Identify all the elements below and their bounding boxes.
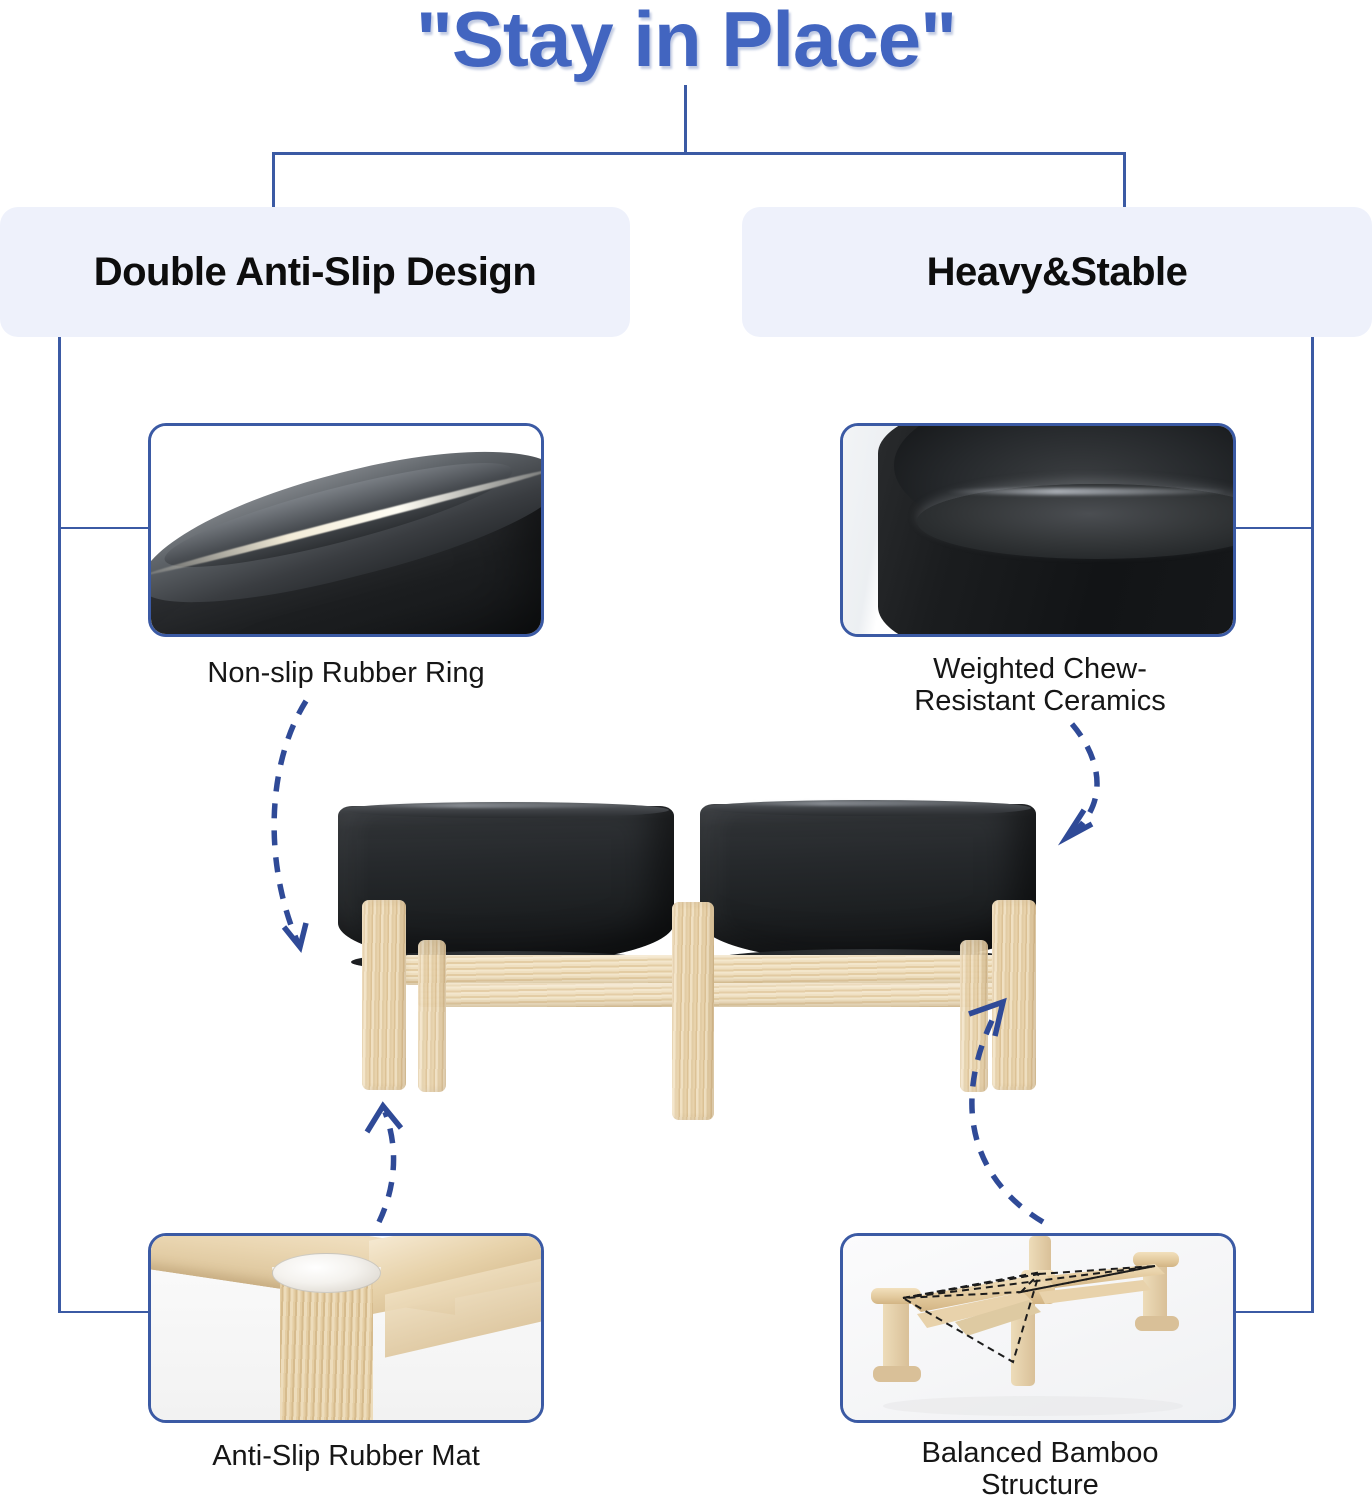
category-label: Double Anti-Slip Design xyxy=(94,250,537,295)
page-title: "Stay in Place" xyxy=(0,0,1372,85)
bamboo-leg-outer-left xyxy=(362,900,406,1090)
connector-title-stem xyxy=(684,85,687,155)
category-box-double-anti-slip-design[interactable]: Double Anti-Slip Design xyxy=(0,207,630,337)
caption-weighted-chew-resistant-ceramics: Weighted Chew- Resistant Ceramics xyxy=(860,653,1220,718)
right-branch-to-top-inset xyxy=(1230,527,1314,529)
connector-top-crossbar xyxy=(272,152,1126,155)
photo-bowl-underside xyxy=(151,426,541,634)
ceramic-bowl-right xyxy=(700,804,1036,962)
caption-line-2: Resistant Ceramics xyxy=(914,685,1165,717)
infographic-canvas: "Stay in Place" Double Anti-Slip Design … xyxy=(0,0,1372,1500)
category-box-heavy-and-stable[interactable]: Heavy&Stable xyxy=(742,207,1372,337)
caption-line-1: Balanced Bamboo xyxy=(922,1437,1159,1469)
category-label: Heavy&Stable xyxy=(927,250,1188,295)
connector-to-left-category xyxy=(272,152,275,210)
bamboo-leg-outer-right xyxy=(992,900,1036,1090)
bowl-rim-highlight xyxy=(725,801,1005,806)
inset-photo-weighted-chew-resistant-ceramics xyxy=(840,423,1236,637)
left-spine-vertical xyxy=(58,337,61,1313)
inset-photo-balanced-bamboo-structure xyxy=(840,1233,1236,1423)
bowl-rim xyxy=(705,800,1031,816)
right-branch-to-bottom-inset xyxy=(1230,1311,1314,1313)
bamboo-frame-illustration xyxy=(843,1236,1233,1420)
rubber-pad-top xyxy=(272,1253,381,1293)
caption-line-1: Weighted Chew- xyxy=(933,653,1147,685)
left-branch-to-bottom-inset xyxy=(58,1311,154,1313)
bamboo-leg-inner-right xyxy=(960,940,988,1092)
connector-to-right-category xyxy=(1123,152,1126,210)
inset-photo-non-slip-rubber-ring xyxy=(148,423,544,637)
caption-balanced-bamboo-structure: Balanced Bamboo Structure xyxy=(860,1437,1220,1500)
bamboo-leg xyxy=(280,1280,374,1423)
bamboo-post-center xyxy=(672,902,714,1120)
bowl-rim-highlight xyxy=(363,803,643,808)
caption-anti-slip-rubber-mat: Anti-Slip Rubber Mat xyxy=(120,1440,572,1472)
left-branch-to-top-inset xyxy=(58,527,154,529)
right-spine-vertical xyxy=(1311,337,1314,1313)
photo-bamboo-leg-rubber-pad xyxy=(151,1236,541,1420)
caption-line-2: Structure xyxy=(981,1469,1099,1500)
bamboo-leg-inner-left xyxy=(418,940,446,1092)
inset-photo-anti-slip-rubber-mat xyxy=(148,1233,544,1423)
product-photo-elevated-double-bowl xyxy=(300,790,1090,1120)
photo-ceramic-bowl-interior xyxy=(843,426,1233,634)
caption-non-slip-rubber-ring: Non-slip Rubber Ring xyxy=(120,657,572,689)
photo-bamboo-frame-triangles xyxy=(843,1236,1233,1420)
bowl-rim xyxy=(343,802,669,818)
